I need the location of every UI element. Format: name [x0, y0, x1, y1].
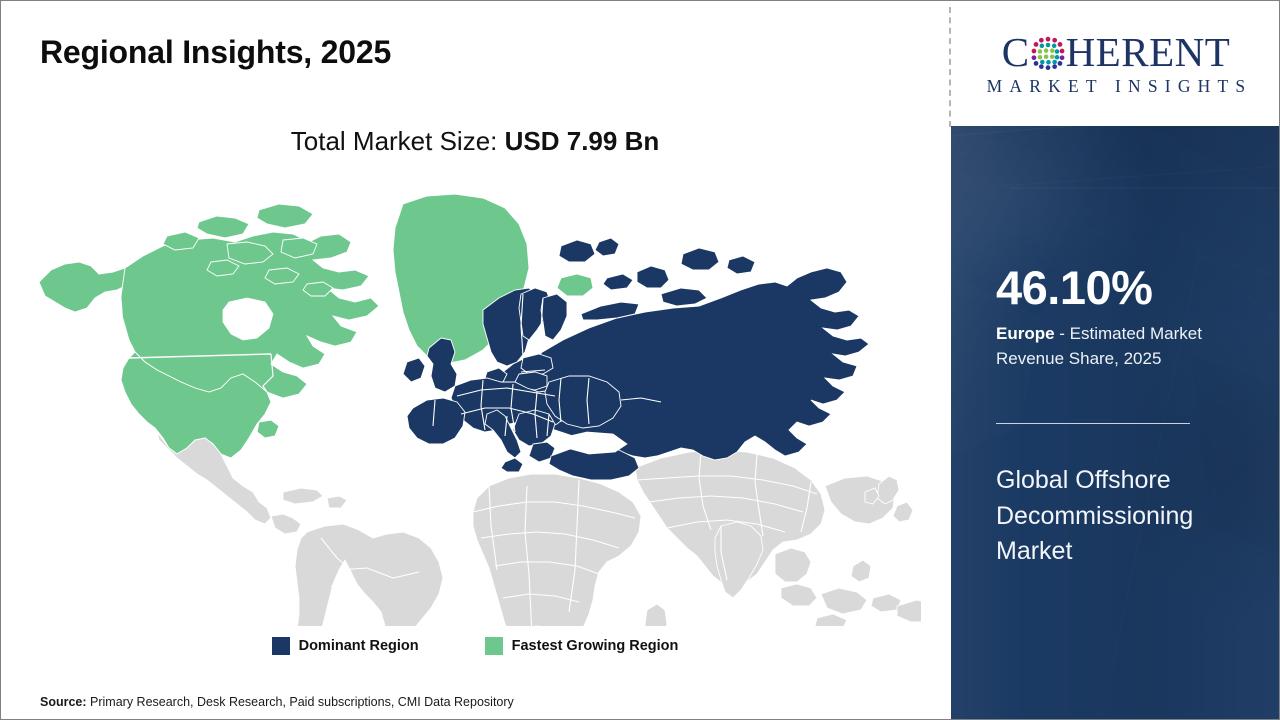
infographic-root: Regional Insights, 2025 Total Market Siz…: [0, 0, 1280, 720]
world-map-container: [21, 186, 921, 626]
map-legend: Dominant Region Fastest Growing Region: [1, 637, 949, 655]
world-map: [21, 186, 921, 626]
source-text: Primary Research, Desk Research, Paid su…: [87, 695, 514, 709]
legend-swatch-dominant-icon: [272, 637, 290, 655]
right-sidebar-panel: C: [951, 1, 1280, 719]
market-name: Global Offshore Decommissioning Market: [996, 463, 1268, 570]
total-market-size-label: Total Market Size:: [291, 126, 505, 156]
legend-label-growing: Fastest Growing Region: [512, 638, 679, 654]
stat-divider-rule: [996, 423, 1190, 424]
legend-label-dominant: Dominant Region: [299, 638, 419, 654]
source-label: Source:: [40, 695, 87, 709]
legend-swatch-growing-icon: [485, 637, 503, 655]
legend-item-dominant-region: Dominant Region: [272, 637, 419, 655]
brand-logo: C: [951, 1, 1280, 126]
stat-caption: Europe - Estimated Market Revenue Share,…: [996, 322, 1258, 371]
stat-highlight-panel: 46.10% Europe - Estimated Market Revenue…: [951, 126, 1280, 719]
stat-region-name: Europe: [996, 324, 1055, 343]
page-title: Regional Insights, 2025: [40, 34, 391, 71]
total-market-size: Total Market Size: USD 7.99 Bn: [1, 126, 949, 157]
logo-wordmark: C: [1002, 30, 1231, 74]
source-note: Source: Primary Research, Desk Research,…: [40, 695, 514, 709]
stat-percentage: 46.10%: [996, 264, 1152, 311]
total-market-size-value: USD 7.99 Bn: [505, 126, 660, 156]
logo-subtitle: MARKET INSIGHTS: [980, 76, 1253, 97]
logo-word-herent: HERENT: [1066, 32, 1231, 73]
dotted-globe-icon: [1029, 33, 1067, 71]
logo-letter-c: C: [1002, 32, 1030, 73]
legend-item-fastest-growing-region: Fastest Growing Region: [485, 637, 679, 655]
left-content-panel: Regional Insights, 2025 Total Market Siz…: [1, 1, 949, 719]
stat-content: 46.10% Europe - Estimated Market Revenue…: [996, 126, 1258, 719]
